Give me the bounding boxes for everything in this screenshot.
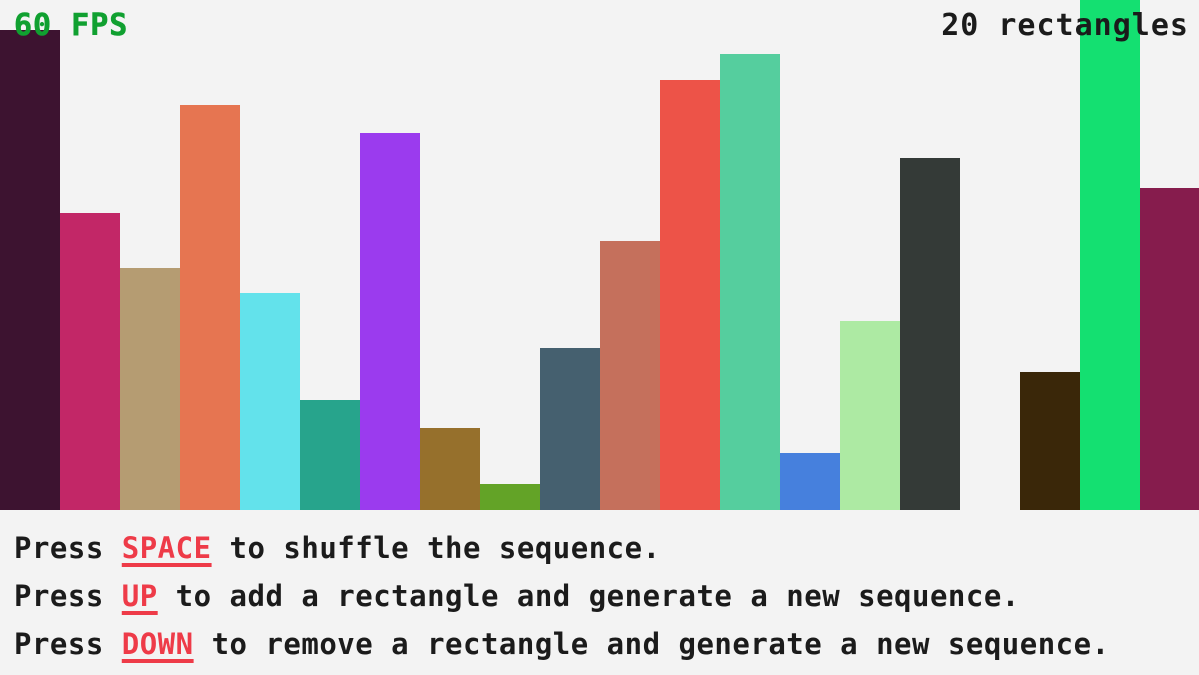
bar-rectangle	[0, 30, 60, 510]
bar-rectangle	[480, 484, 540, 510]
bar-rectangle	[420, 428, 480, 510]
rectangle-sorting-app: 60 FPS 20 rectangles Press SPACE to shuf…	[0, 0, 1199, 675]
instruction-suffix: to shuffle the sequence.	[212, 531, 661, 565]
bar-chart-canvas[interactable]	[0, 0, 1199, 510]
bar-rectangle	[360, 133, 420, 510]
bar-rectangle	[180, 105, 240, 510]
bar-rectangle	[1080, 0, 1140, 510]
bar-rectangle	[600, 241, 660, 510]
fps-counter: 60 FPS	[14, 11, 128, 41]
rectangle-count-label: 20 rectangles	[941, 11, 1189, 41]
bar-rectangle	[660, 80, 720, 510]
instruction-key-down[interactable]: DOWN	[122, 627, 194, 661]
bar-rectangle	[540, 348, 600, 510]
instruction-prefix: Press	[14, 627, 122, 661]
instruction-line: Press SPACE to shuffle the sequence.	[14, 524, 1194, 572]
instruction-prefix: Press	[14, 531, 122, 565]
instruction-prefix: Press	[14, 579, 122, 613]
instruction-suffix: to add a rectangle and generate a new se…	[158, 579, 1020, 613]
instruction-suffix: to remove a rectangle and generate a new…	[194, 627, 1110, 661]
bar-rectangle	[900, 158, 960, 510]
bar-rectangle	[720, 54, 780, 510]
bar-rectangle	[120, 268, 180, 510]
instruction-line: Press UP to add a rectangle and generate…	[14, 572, 1194, 620]
instructions-panel: Press SPACE to shuffle the sequence.Pres…	[14, 524, 1194, 668]
bar-rectangle	[1140, 188, 1199, 510]
instruction-key-space[interactable]: SPACE	[122, 531, 212, 565]
bar-rectangle	[240, 293, 300, 510]
bar-rectangle	[780, 453, 840, 510]
bar-rectangle	[840, 321, 900, 510]
bar-rectangle	[60, 213, 120, 510]
bar-rectangle	[300, 400, 360, 510]
instruction-key-up[interactable]: UP	[122, 579, 158, 613]
instruction-line: Press DOWN to remove a rectangle and gen…	[14, 620, 1194, 668]
bar-rectangle	[1020, 372, 1080, 510]
